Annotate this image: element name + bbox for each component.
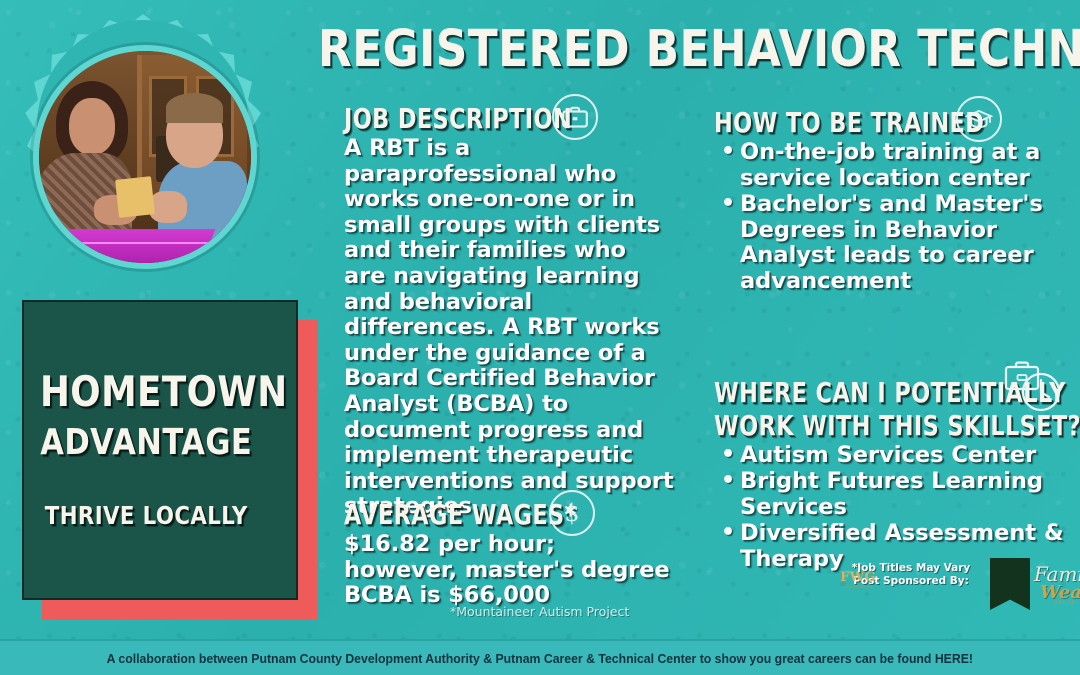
where-to-work-heading-line1: WHERE CAN I POTENTIALLY xyxy=(714,377,1002,408)
sponsor-block: *Job Titles May Vary Post Sponsored By: … xyxy=(838,558,1078,620)
footer-bar: A collaboration between Putnam County De… xyxy=(0,639,1080,675)
svg-text:$: $ xyxy=(564,499,579,527)
brand-tagline: THRIVE LOCALLY xyxy=(40,502,253,529)
briefcase-clock-icon xyxy=(1002,359,1064,417)
poster-title-wrap: REGISTERED BEHAVIOR TECHNICIAN xyxy=(318,24,1078,80)
list-item: On-the-job training at a service locatio… xyxy=(714,140,1074,191)
photo-circle xyxy=(33,45,257,269)
fwg-logo-subtext: Investments xyxy=(838,585,878,590)
where-to-work-section: WHERE CAN I POTENTIALLY WORK WITH THIS S… xyxy=(714,377,1074,573)
where-to-work-list: Autism Services Center Bright Futures Le… xyxy=(714,443,1074,573)
list-item: Bachelor's and Master's Degrees in Behav… xyxy=(714,192,1074,294)
brand-line-2: ADVANTAGE xyxy=(40,424,253,462)
job-description-body: A RBT is a paraprofessional who works on… xyxy=(344,136,674,520)
dollar-circle-icon: $ xyxy=(549,490,595,536)
list-item: Autism Services Center xyxy=(714,443,1074,469)
average-wages-section: AVERAGE WAGES* $ $16.82 per hour; howeve… xyxy=(344,500,674,609)
fwg-logo-text: FWG xyxy=(838,570,878,585)
brand-line-1: HOMETOWN xyxy=(40,370,253,414)
how-to-be-trained-section: HOW TO BE TRAINED On-the-job training at… xyxy=(714,108,1074,295)
how-to-be-trained-list: On-the-job training at a service locatio… xyxy=(714,140,1074,295)
graduation-cap-icon xyxy=(956,96,1002,142)
footer-text: A collaboration between Putnam County De… xyxy=(107,651,973,666)
list-item: Bright Futures Learning Services xyxy=(714,469,1074,520)
average-wages-body: $16.82 per hour; however, master's degre… xyxy=(344,532,674,609)
job-description-section: JOB DESCRIPTION A RBT is a paraprofessio… xyxy=(344,104,674,520)
hometown-advantage-panel: HOMETOWN ADVANTAGE THRIVE LOCALLY xyxy=(22,300,298,600)
infographic-poster: HOMETOWN ADVANTAGE THRIVE LOCALLY REGIST… xyxy=(0,0,1080,675)
average-wages-footnote: *Mountaineer Autism Project xyxy=(450,604,629,619)
family-wealth-logo-line3: GROUP xyxy=(1054,601,1076,606)
family-wealth-logo-line2: Wealth xyxy=(1040,582,1080,603)
right-column: HOW TO BE TRAINED On-the-job training at… xyxy=(714,108,1074,574)
where-to-work-heading-line2: WORK WITH THIS SKILLSET?* xyxy=(714,410,1002,441)
fwg-logo-banner xyxy=(990,558,1030,610)
poster-title: REGISTERED BEHAVIOR TECHNICIAN xyxy=(318,24,1080,76)
briefcase-icon xyxy=(552,94,598,140)
